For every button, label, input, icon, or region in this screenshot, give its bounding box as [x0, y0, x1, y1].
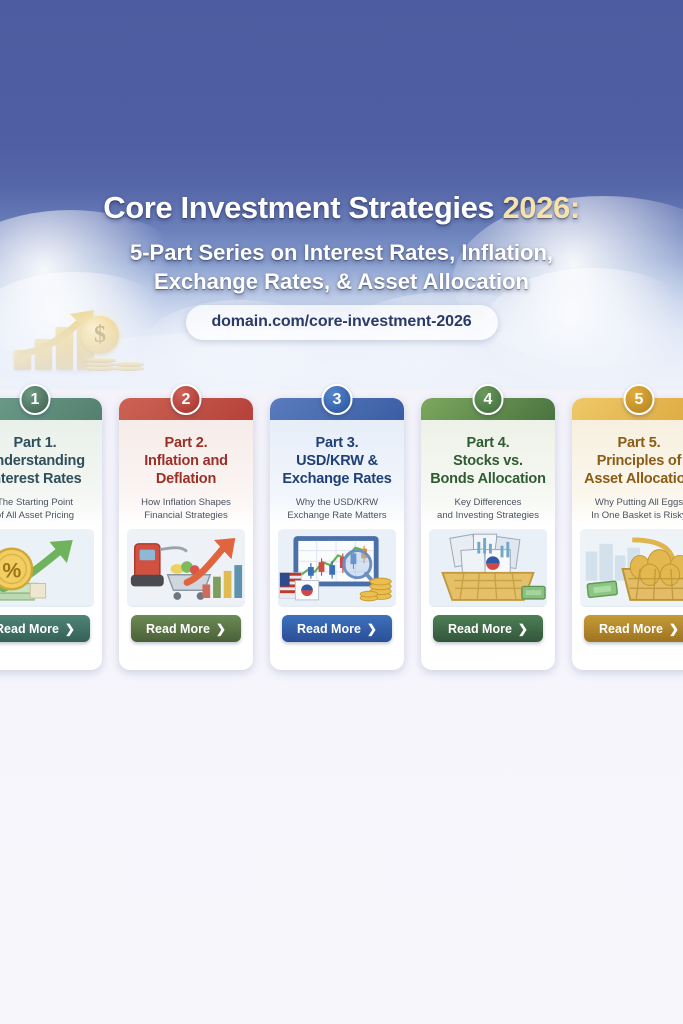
- card-title-line-1: Part 4.: [426, 434, 550, 452]
- read-more-button[interactable]: Read More ❯: [584, 615, 683, 642]
- card-subtitle-line-1: How Inflation Shapes: [141, 497, 231, 508]
- read-more-button[interactable]: Read More ❯: [131, 615, 241, 642]
- card-title-line-3: Interest Rates: [0, 470, 97, 488]
- card-number: 5: [635, 391, 644, 409]
- percent-coin-cash-green-arrow-icon: %: [0, 529, 94, 607]
- read-more-button[interactable]: Read More ❯: [0, 615, 90, 642]
- card-title-line-2: Stocks vs.: [426, 452, 550, 470]
- chevron-right-icon: ❯: [669, 622, 679, 636]
- read-more-label: Read More: [448, 622, 512, 636]
- card-subtitle-line-1: The Starting Point: [0, 497, 73, 508]
- card-title-line-1: Part 2.: [124, 434, 248, 452]
- card-title-line-2: Inflation and: [124, 452, 248, 470]
- read-more-label: Read More: [297, 622, 361, 636]
- card-subtitle: The Starting Point of All Asset Pricing: [0, 496, 97, 522]
- card-number: 3: [333, 391, 342, 409]
- card-subtitle-line-2: Exchange Rate Matters: [287, 510, 386, 521]
- card-subtitle-line-1: Why the USD/KRW: [296, 497, 378, 508]
- card-number-badge: 2: [171, 384, 202, 415]
- card-title-line-2: Understanding: [0, 452, 97, 470]
- read-more-label: Read More: [599, 622, 663, 636]
- card-subtitle: Why the USD/KRW Exchange Rate Matters: [275, 496, 399, 522]
- page-title-year: 2026:: [502, 190, 579, 225]
- basket-golden-eggs-cash-skyline-icon: [580, 529, 683, 607]
- card-subtitle: Why Putting All Eggs In One Basket is Ri…: [577, 496, 683, 522]
- page-title-main: Core Investment Strategies: [103, 190, 502, 225]
- card-subtitle: How Inflation Shapes Financial Strategie…: [124, 496, 248, 522]
- subtitle-line-1: 5-Part Series on Interest Rates, Inflati…: [130, 240, 553, 265]
- card-subtitle-line-2: Financial Strategies: [144, 510, 227, 521]
- card-title-line-3: Exchange Rates: [275, 470, 399, 488]
- card-number-badge: 4: [473, 384, 504, 415]
- series-card-part-3[interactable]: Part 3. USD/KRW & Exchange Rates Why the…: [270, 398, 404, 670]
- gas-pump-shopping-cart-red-arrow-icon: [127, 529, 245, 607]
- card-title-line-1: Part 1.: [0, 434, 97, 452]
- card-title: Part 5. Principles of Asset Allocation: [577, 434, 683, 488]
- svg-text:%: %: [2, 559, 21, 583]
- card-title: Part 1. Understanding Interest Rates: [0, 434, 97, 488]
- chevron-right-icon: ❯: [518, 622, 528, 636]
- card-number: 1: [31, 391, 40, 409]
- card-number-badge: 3: [322, 384, 353, 415]
- chevron-right-icon: ❯: [65, 622, 75, 636]
- card-title-line-1: Part 5.: [577, 434, 683, 452]
- card-title: Part 4. Stocks vs. Bonds Allocation: [426, 434, 550, 488]
- series-card-part-4[interactable]: Part 4. Stocks vs. Bonds Allocation Key …: [421, 398, 555, 670]
- card-title: Part 3. USD/KRW & Exchange Rates: [275, 434, 399, 488]
- page-subtitle: 5-Part Series on Interest Rates, Inflati…: [0, 238, 683, 296]
- page-title: Core Investment Strategies 2026:: [0, 190, 683, 226]
- read-more-button[interactable]: Read More ❯: [282, 615, 392, 642]
- card-title-line-2: USD/KRW &: [275, 452, 399, 470]
- card-subtitle-line-1: Key Differences: [455, 497, 522, 508]
- series-card-part-2[interactable]: Part 2. Inflation and Deflation How Infl…: [119, 398, 253, 670]
- card-number: 4: [484, 391, 493, 409]
- card-subtitle-line-2: In One Basket is Risky: [591, 510, 683, 521]
- chevron-right-icon: ❯: [367, 622, 377, 636]
- card-title-line-3: Deflation: [124, 470, 248, 488]
- page-root: $ Core Investment Strategies 2026: 5-Par…: [0, 0, 683, 1024]
- read-more-label: Read More: [146, 622, 210, 636]
- card-number: 2: [182, 391, 191, 409]
- card-number-badge: 5: [624, 384, 655, 415]
- subtitle-line-2: Exchange Rates, & Asset Allocation: [154, 269, 529, 294]
- monitor-candlestick-chart-flags-coins-icon: [278, 529, 396, 607]
- series-card-part-1[interactable]: Part 1. Understanding Interest Rates The…: [0, 398, 102, 670]
- card-subtitle-line-2: of All Asset Pricing: [0, 510, 74, 521]
- url-badge[interactable]: domain.com/core-investment-2026: [185, 305, 497, 340]
- hero-banner: $ Core Investment Strategies 2026: 5-Par…: [0, 0, 683, 390]
- card-top-bar: [0, 398, 102, 420]
- read-more-button[interactable]: Read More ❯: [433, 615, 543, 642]
- series-card-list: Part 1. Understanding Interest Rates The…: [0, 398, 683, 670]
- read-more-label: Read More: [0, 622, 59, 636]
- card-title-line-3: Bonds Allocation: [426, 470, 550, 488]
- card-title-line-2: Principles of: [577, 452, 683, 470]
- card-subtitle-line-1: Why Putting All Eggs: [595, 497, 683, 508]
- card-number-badge: 1: [20, 384, 51, 415]
- card-subtitle-line-2: and Investing Strategies: [437, 510, 539, 521]
- card-subtitle: Key Differences and Investing Strategies: [426, 496, 550, 522]
- card-title-line-3: Asset Allocation: [577, 470, 683, 488]
- basket-of-certificates-cash-icon: [429, 529, 547, 607]
- card-title: Part 2. Inflation and Deflation: [124, 434, 248, 488]
- chevron-right-icon: ❯: [216, 622, 226, 636]
- series-card-part-5[interactable]: Part 5. Principles of Asset Allocation W…: [572, 398, 683, 670]
- card-title-line-1: Part 3.: [275, 434, 399, 452]
